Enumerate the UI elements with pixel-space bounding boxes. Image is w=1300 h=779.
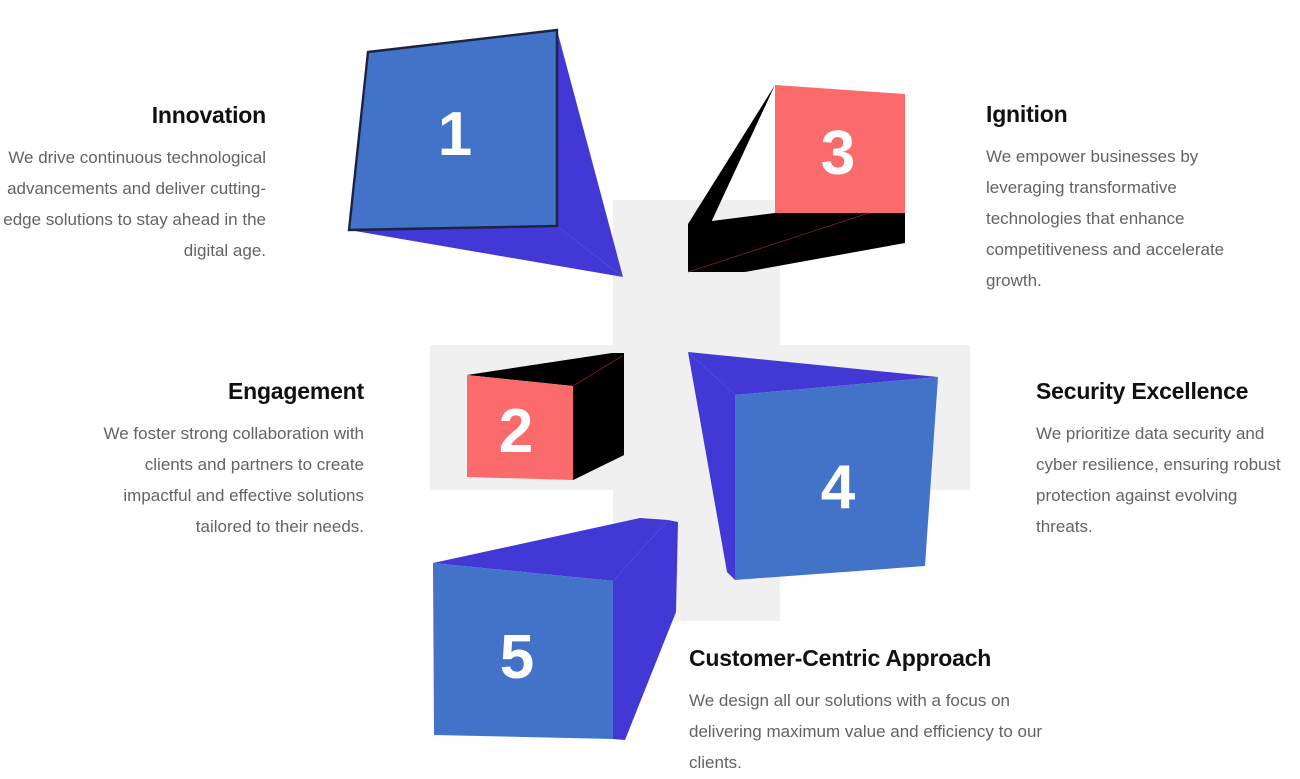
- item-innovation-body: We drive continuous technological advanc…: [0, 142, 266, 266]
- item-customer-heading: Customer-Centric Approach: [689, 645, 1049, 671]
- block-2[interactable]: 2: [467, 353, 624, 480]
- item-security-heading: Security Excellence: [1036, 378, 1286, 404]
- item-customer: Customer-Centric Approach We design all …: [689, 645, 1049, 778]
- item-security: Security Excellence We prioritize data s…: [1036, 378, 1286, 542]
- block-4-number: 4: [821, 453, 856, 522]
- block-1-number: 1: [438, 100, 472, 169]
- item-ignition: Ignition We empower businesses by levera…: [986, 101, 1248, 296]
- item-innovation: Innovation We drive continuous technolog…: [0, 102, 266, 266]
- block-3-number: 3: [821, 119, 855, 188]
- item-engagement-body: We foster strong collaboration with clie…: [96, 418, 364, 542]
- infographic-canvas: 1 3 2: [0, 0, 1300, 779]
- item-engagement: Engagement We foster strong collaboratio…: [96, 378, 364, 542]
- block-4[interactable]: 4: [688, 352, 938, 580]
- block-3-side-bottom: [688, 213, 905, 272]
- block-2-number: 2: [499, 397, 533, 466]
- block-5[interactable]: 5: [433, 518, 678, 740]
- item-innovation-heading: Innovation: [0, 102, 266, 128]
- block-5-number: 5: [500, 623, 534, 692]
- item-security-body: We prioritize data security and cyber re…: [1036, 418, 1286, 542]
- item-ignition-heading: Ignition: [986, 101, 1248, 127]
- block-3[interactable]: 3: [688, 85, 905, 272]
- block-1[interactable]: 1: [349, 30, 623, 277]
- item-customer-body: We design all our solutions with a focus…: [689, 685, 1049, 778]
- item-engagement-heading: Engagement: [96, 378, 364, 404]
- item-ignition-body: We empower businesses by leveraging tran…: [986, 141, 1248, 296]
